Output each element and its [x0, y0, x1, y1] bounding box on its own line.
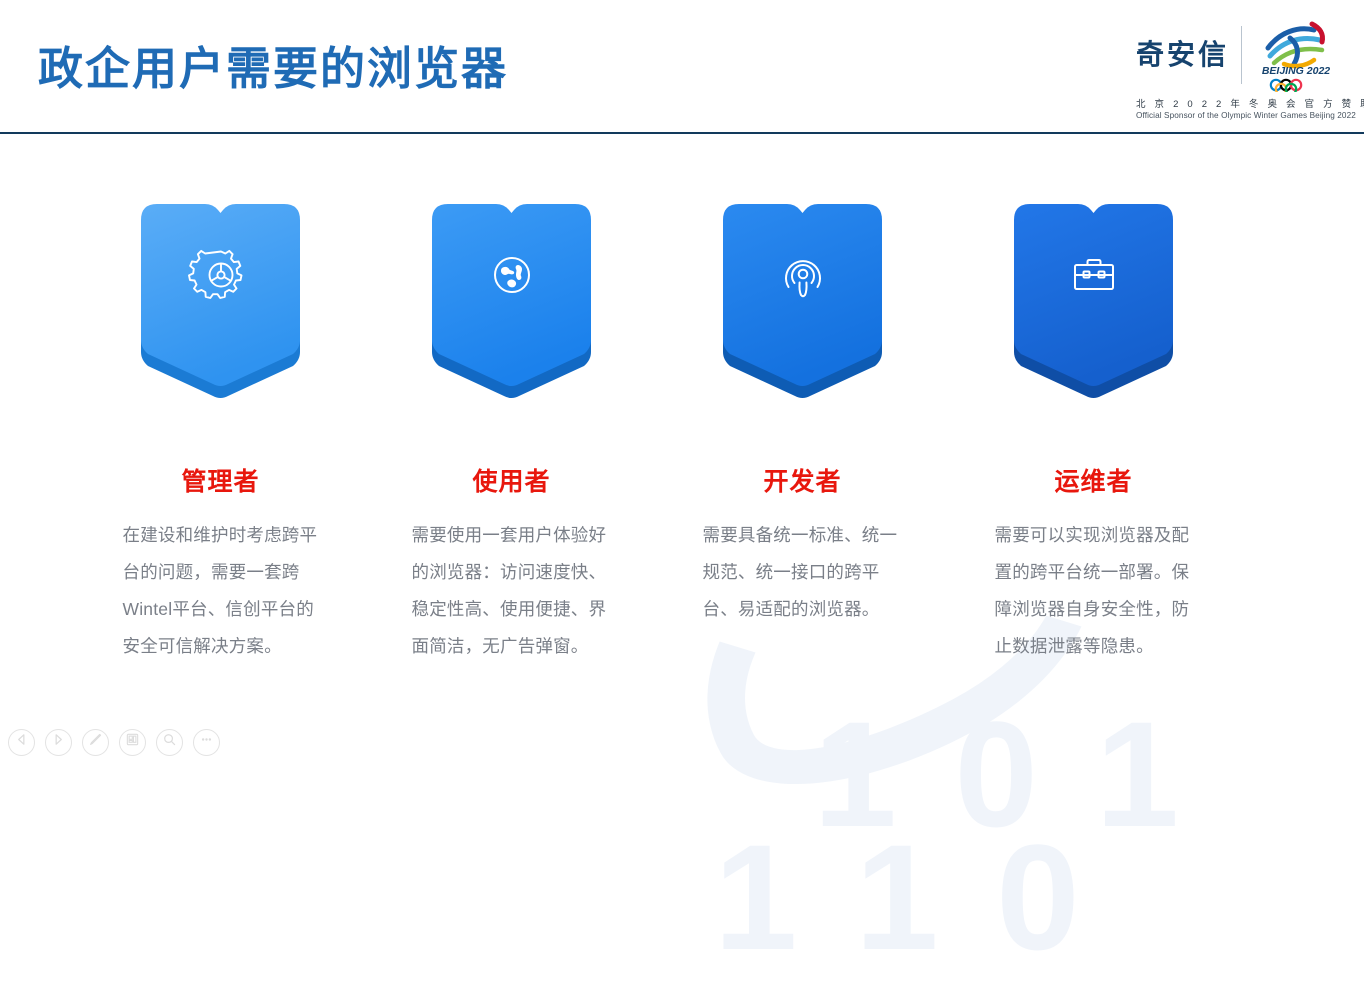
- svg-text:BEIJING 2022: BEIJING 2022: [1262, 65, 1330, 77]
- beijing-2022-olympic-logo-icon: BEIJING 2022: [1254, 18, 1338, 92]
- card-user: 使用者 需要使用一套用户体验好的浏览器：访问速度快、稳定性高、使用便捷、界面简洁…: [366, 160, 657, 720]
- sponsor-logo-block: 奇安信 BEIJING 2022: [1136, 16, 1348, 128]
- ellipsis-icon: [199, 732, 214, 752]
- badge-shape: [1006, 190, 1181, 390]
- card-body: 需要具备统一标准、统一规范、统一接口的跨平台、易适配的浏览器。: [703, 517, 903, 628]
- badge-shape: [424, 190, 599, 390]
- grid-icon: [125, 732, 140, 752]
- card-title: 运维者: [1054, 470, 1132, 495]
- card-body: 在建设和维护时考虑跨平台的问题，需要一套跨Wintel平台、信创平台的安全可信解…: [123, 517, 319, 665]
- slide-overview-button[interactable]: [119, 729, 146, 756]
- magnifier-icon: [162, 732, 177, 752]
- logo-row: 奇安信 BEIJING 2022: [1136, 16, 1348, 94]
- caret-right-icon: [51, 732, 66, 752]
- page-title: 政企用户需要的浏览器: [38, 32, 508, 97]
- card-developer: 开发者 需要具备统一标准、统一规范、统一接口的跨平台、易适配的浏览器。: [657, 160, 948, 720]
- sponsor-text-english: Official Sponsor of the Olympic Winter G…: [1136, 111, 1348, 120]
- sponsor-text-chinese: 北 京 2 0 2 2 年 冬 奥 会 官 方 赞 助 商: [1136, 96, 1348, 110]
- header-divider: [0, 132, 1364, 134]
- pen-icon: [88, 732, 103, 752]
- badge-shape: [715, 190, 890, 390]
- card-manager: 管理者 在建设和维护时考虑跨平台的问题，需要一套跨Wintel平台、信创平台的安…: [75, 160, 366, 720]
- slide-header: 政企用户需要的浏览器 奇安信 BEIJING 2022: [0, 0, 1364, 134]
- card-body: 需要使用一套用户体验好的浏览器：访问速度快、稳定性高、使用便捷、界面简洁，无广告…: [412, 517, 612, 665]
- previous-slide-button[interactable]: [8, 729, 35, 756]
- caret-left-icon: [14, 732, 29, 752]
- card-operations: 运维者 需要可以实现浏览器及配置的跨平台统一部署。保障浏览器自身安全性，防止数据…: [948, 160, 1239, 720]
- badge-shape: [133, 190, 308, 390]
- brand-name: 奇安信: [1136, 41, 1241, 69]
- zoom-button[interactable]: [156, 729, 183, 756]
- card-title: 管理者: [181, 470, 259, 495]
- card-body: 需要可以实现浏览器及配置的跨平台统一部署。保障浏览器自身安全性，防止数据泄露等隐…: [995, 517, 1193, 665]
- card-title: 使用者: [472, 470, 550, 495]
- pen-annotate-button[interactable]: [82, 729, 109, 756]
- next-slide-button[interactable]: [45, 729, 72, 756]
- card-row: 管理者 在建设和维护时考虑跨平台的问题，需要一套跨Wintel平台、信创平台的安…: [0, 160, 1364, 720]
- logo-divider: [1241, 26, 1242, 84]
- presentation-toolbar: [8, 725, 220, 759]
- more-options-button[interactable]: [193, 729, 220, 756]
- card-title: 开发者: [763, 470, 841, 495]
